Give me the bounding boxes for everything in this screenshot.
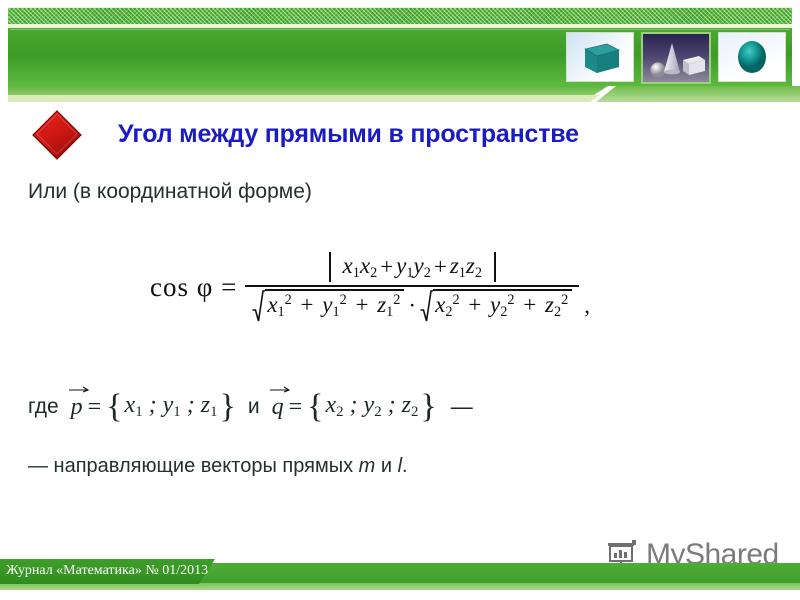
closing-text: — направляющие векторы прямых m и l. — [28, 455, 408, 478]
den2-plus-2: + — [520, 292, 539, 317]
num-term-2: y1y2 — [396, 253, 431, 282]
vector-q-expression: q = { x2 ; y2 ; z2 } — [270, 388, 439, 426]
sphere-icon — [719, 33, 785, 81]
vector-q-brace-close: } — [418, 388, 438, 426]
den1-y: y12 — [322, 292, 346, 317]
footer-light-bar — [0, 583, 800, 590]
formula-trailing-comma: , — [579, 293, 590, 323]
vector-p-brace-close: } — [218, 388, 238, 426]
vector-p-letter: p — [71, 394, 83, 420]
radical-sign-icon — [252, 289, 265, 323]
sphere-thumbnail — [718, 32, 786, 82]
vector-conjunction: и — [248, 395, 260, 419]
den1-x: x12 — [267, 292, 291, 317]
solids-thumbnail — [641, 32, 711, 84]
vector-q-letter: q — [272, 394, 284, 420]
sqrt-second: x22 + y22 + z22 — [420, 289, 572, 323]
vector-p-components: x1 ; y1 ; z1 — [125, 392, 218, 421]
sqrt-first: x12 + y12 + z12 — [252, 289, 404, 323]
vector-definition-line: где p = { x1 ; y1 ; z1 } и q = { x2 ; y2… — [28, 388, 473, 426]
den2-z: z22 — [545, 292, 568, 317]
closing-prefix: — направляющие векторы прямых — [28, 455, 359, 477]
num-term-1: x1x2 — [343, 253, 378, 282]
footer-source-text: Журнал «Математика» № 01/2013 — [6, 563, 208, 579]
vector-p-symbol: p — [69, 394, 85, 421]
title-row: Угол между прямыми в пространстве — [0, 104, 800, 162]
header-texture-strip — [8, 7, 792, 25]
den2-plus-1: + — [465, 292, 484, 317]
closing-suffix: . — [402, 455, 408, 477]
vector-q-brace-open: { — [305, 388, 325, 426]
formula-denominator: x12 + y12 + z12 · x22 + y22 — [245, 287, 579, 323]
den1-plus-2: + — [352, 292, 371, 317]
vector-p-brace-open: { — [104, 388, 124, 426]
formula-cos-phi: cos φ — [150, 272, 213, 302]
abs-bar-open-icon — [329, 252, 331, 282]
den1-z: z12 — [377, 292, 400, 317]
cube-thumbnail — [566, 32, 634, 82]
formula-numerator: x1x2 + y1y2 + z1z2 — [311, 252, 515, 285]
num-plus-2: + — [431, 254, 450, 280]
solids-icon — [643, 34, 709, 82]
vector-p-equals: = — [85, 394, 105, 421]
formula-fraction: x1x2 + y1y2 + z1z2 x12 + y12 + — [245, 252, 579, 323]
den2-x: x22 — [435, 292, 459, 317]
num-plus-1: + — [377, 254, 396, 280]
cube-icon — [567, 33, 633, 81]
vector-p-expression: p = { x1 ; y1 ; z1 } — [69, 388, 238, 426]
vector-trailing-dash: — — [451, 394, 473, 420]
header-skirt-right — [596, 86, 800, 102]
sqrt-first-radicand: x12 + y12 + z12 — [265, 289, 404, 323]
header-thumbnail-strip — [566, 32, 786, 84]
slide-footer: Журнал «Математика» № 01/2013 — [0, 555, 800, 600]
abs-bar-close-icon — [494, 252, 496, 282]
header-band-highlight — [10, 29, 790, 30]
closing-conjunction: и — [375, 455, 397, 477]
page-title: Угол между прямыми в пространстве — [118, 120, 778, 149]
radical-sign-icon-2 — [420, 289, 433, 323]
slide-header — [0, 0, 800, 100]
sqrt-second-radicand: x22 + y22 + z22 — [433, 289, 572, 323]
lead-text: Или (в координатной форме) — [28, 180, 312, 204]
formula-left-side: cos φ = — [150, 272, 237, 303]
where-label: где — [28, 395, 59, 419]
vector-arrow-icon-2 — [270, 386, 290, 393]
vector-q-equals: = — [286, 394, 306, 421]
vector-q-components: x2 ; y2 ; z2 — [325, 392, 418, 421]
red-diamond-icon — [30, 108, 84, 162]
denominator-dot: · — [405, 293, 419, 319]
cosine-formula: cos φ = x1x2 + y1y2 + z1z2 x — [150, 252, 590, 323]
den1-plus-1: + — [298, 292, 317, 317]
header-skirt-left — [8, 86, 608, 95]
closing-var-m: m — [359, 455, 376, 477]
num-term-3: z1z2 — [450, 253, 482, 282]
den2-y: y22 — [490, 292, 514, 317]
vector-q-symbol: q — [270, 394, 286, 421]
formula-equals-sign: = — [221, 272, 237, 302]
vector-arrow-icon — [69, 386, 89, 393]
header-skirt-pale — [8, 95, 600, 102]
